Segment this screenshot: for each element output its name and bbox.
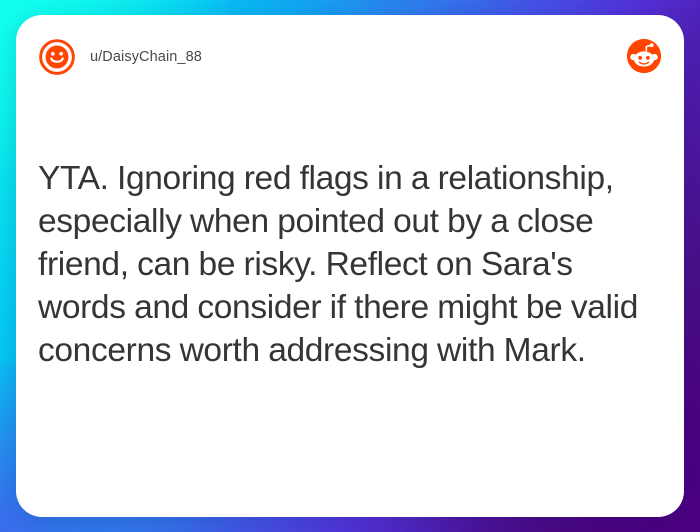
comment-card: u/DaisyChain_88 YTA. Ignoring red flags …: [16, 15, 684, 517]
comment-text: YTA. Ignoring red flags in a relationshi…: [38, 157, 660, 372]
comment-header: u/DaisyChain_88: [16, 15, 684, 99]
username-label[interactable]: u/DaisyChain_88: [90, 49, 202, 65]
smiley-face-avatar-icon[interactable]: [38, 38, 76, 76]
reddit-snoo-icon[interactable]: [626, 38, 662, 74]
